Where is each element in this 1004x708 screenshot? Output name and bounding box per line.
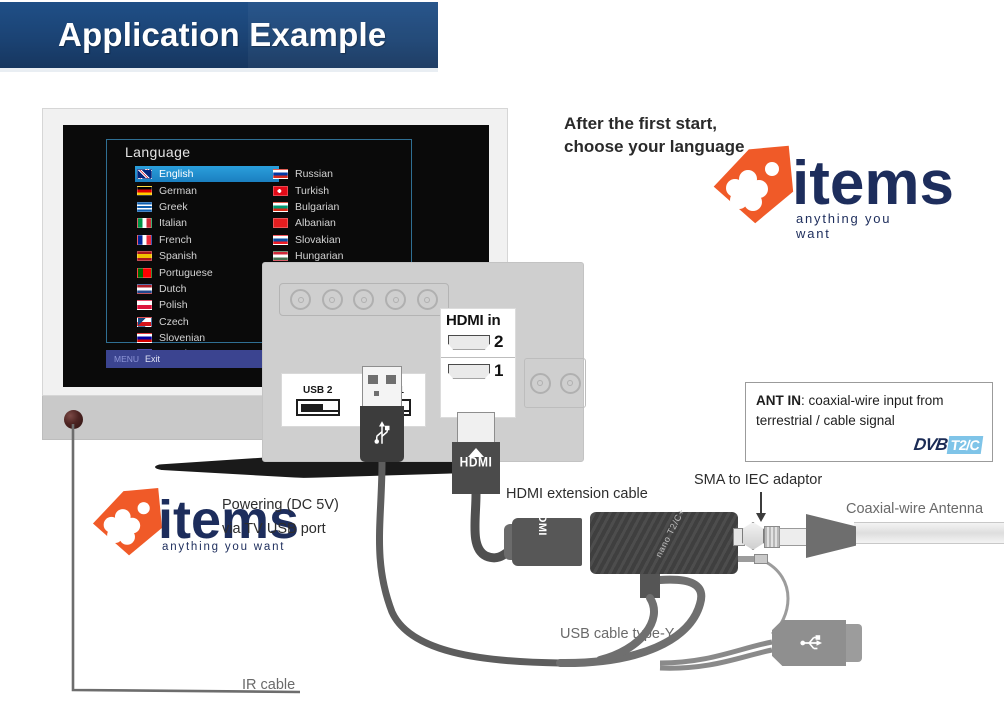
usb-symbol-icon <box>373 421 391 447</box>
hdmi-port-icon <box>448 335 490 350</box>
audio-out-rca-group <box>524 358 586 408</box>
hdmi-port-1-number: 1 <box>494 361 503 381</box>
coaxial-antenna-cable <box>854 522 1004 544</box>
usb-symbol-icon <box>800 632 822 654</box>
hdmi-port-2-row: 2 <box>441 329 515 355</box>
rca-jack-icon <box>560 373 581 394</box>
hdmi-in-title: HDMI in <box>441 309 515 329</box>
hdmi-port-icon <box>448 364 490 379</box>
hdmi-in-group: HDMI in 2 1 <box>440 308 516 418</box>
dongle-usb-stub <box>640 572 660 598</box>
usb-plug-hole <box>374 391 379 396</box>
hdmi-plug-contacts <box>457 412 495 444</box>
sma-knurled-ring <box>764 526 780 548</box>
hdmi-plug-label: HDMI <box>447 454 505 470</box>
hdmi-port-2-number: 2 <box>494 332 503 352</box>
rca-jack-icon <box>530 373 551 394</box>
hdmi-port-1-row: 1 <box>441 357 515 384</box>
antenna-thin-wire-tip <box>754 554 768 564</box>
iec-adaptor-tube <box>779 528 807 546</box>
application-example-diagram: Application Example Language EnglishGerm… <box>0 0 1004 708</box>
dongle-hdmi-label: HDMI <box>536 491 548 551</box>
usb-plug-body <box>360 406 404 462</box>
usb-plug-contacts <box>362 366 402 408</box>
